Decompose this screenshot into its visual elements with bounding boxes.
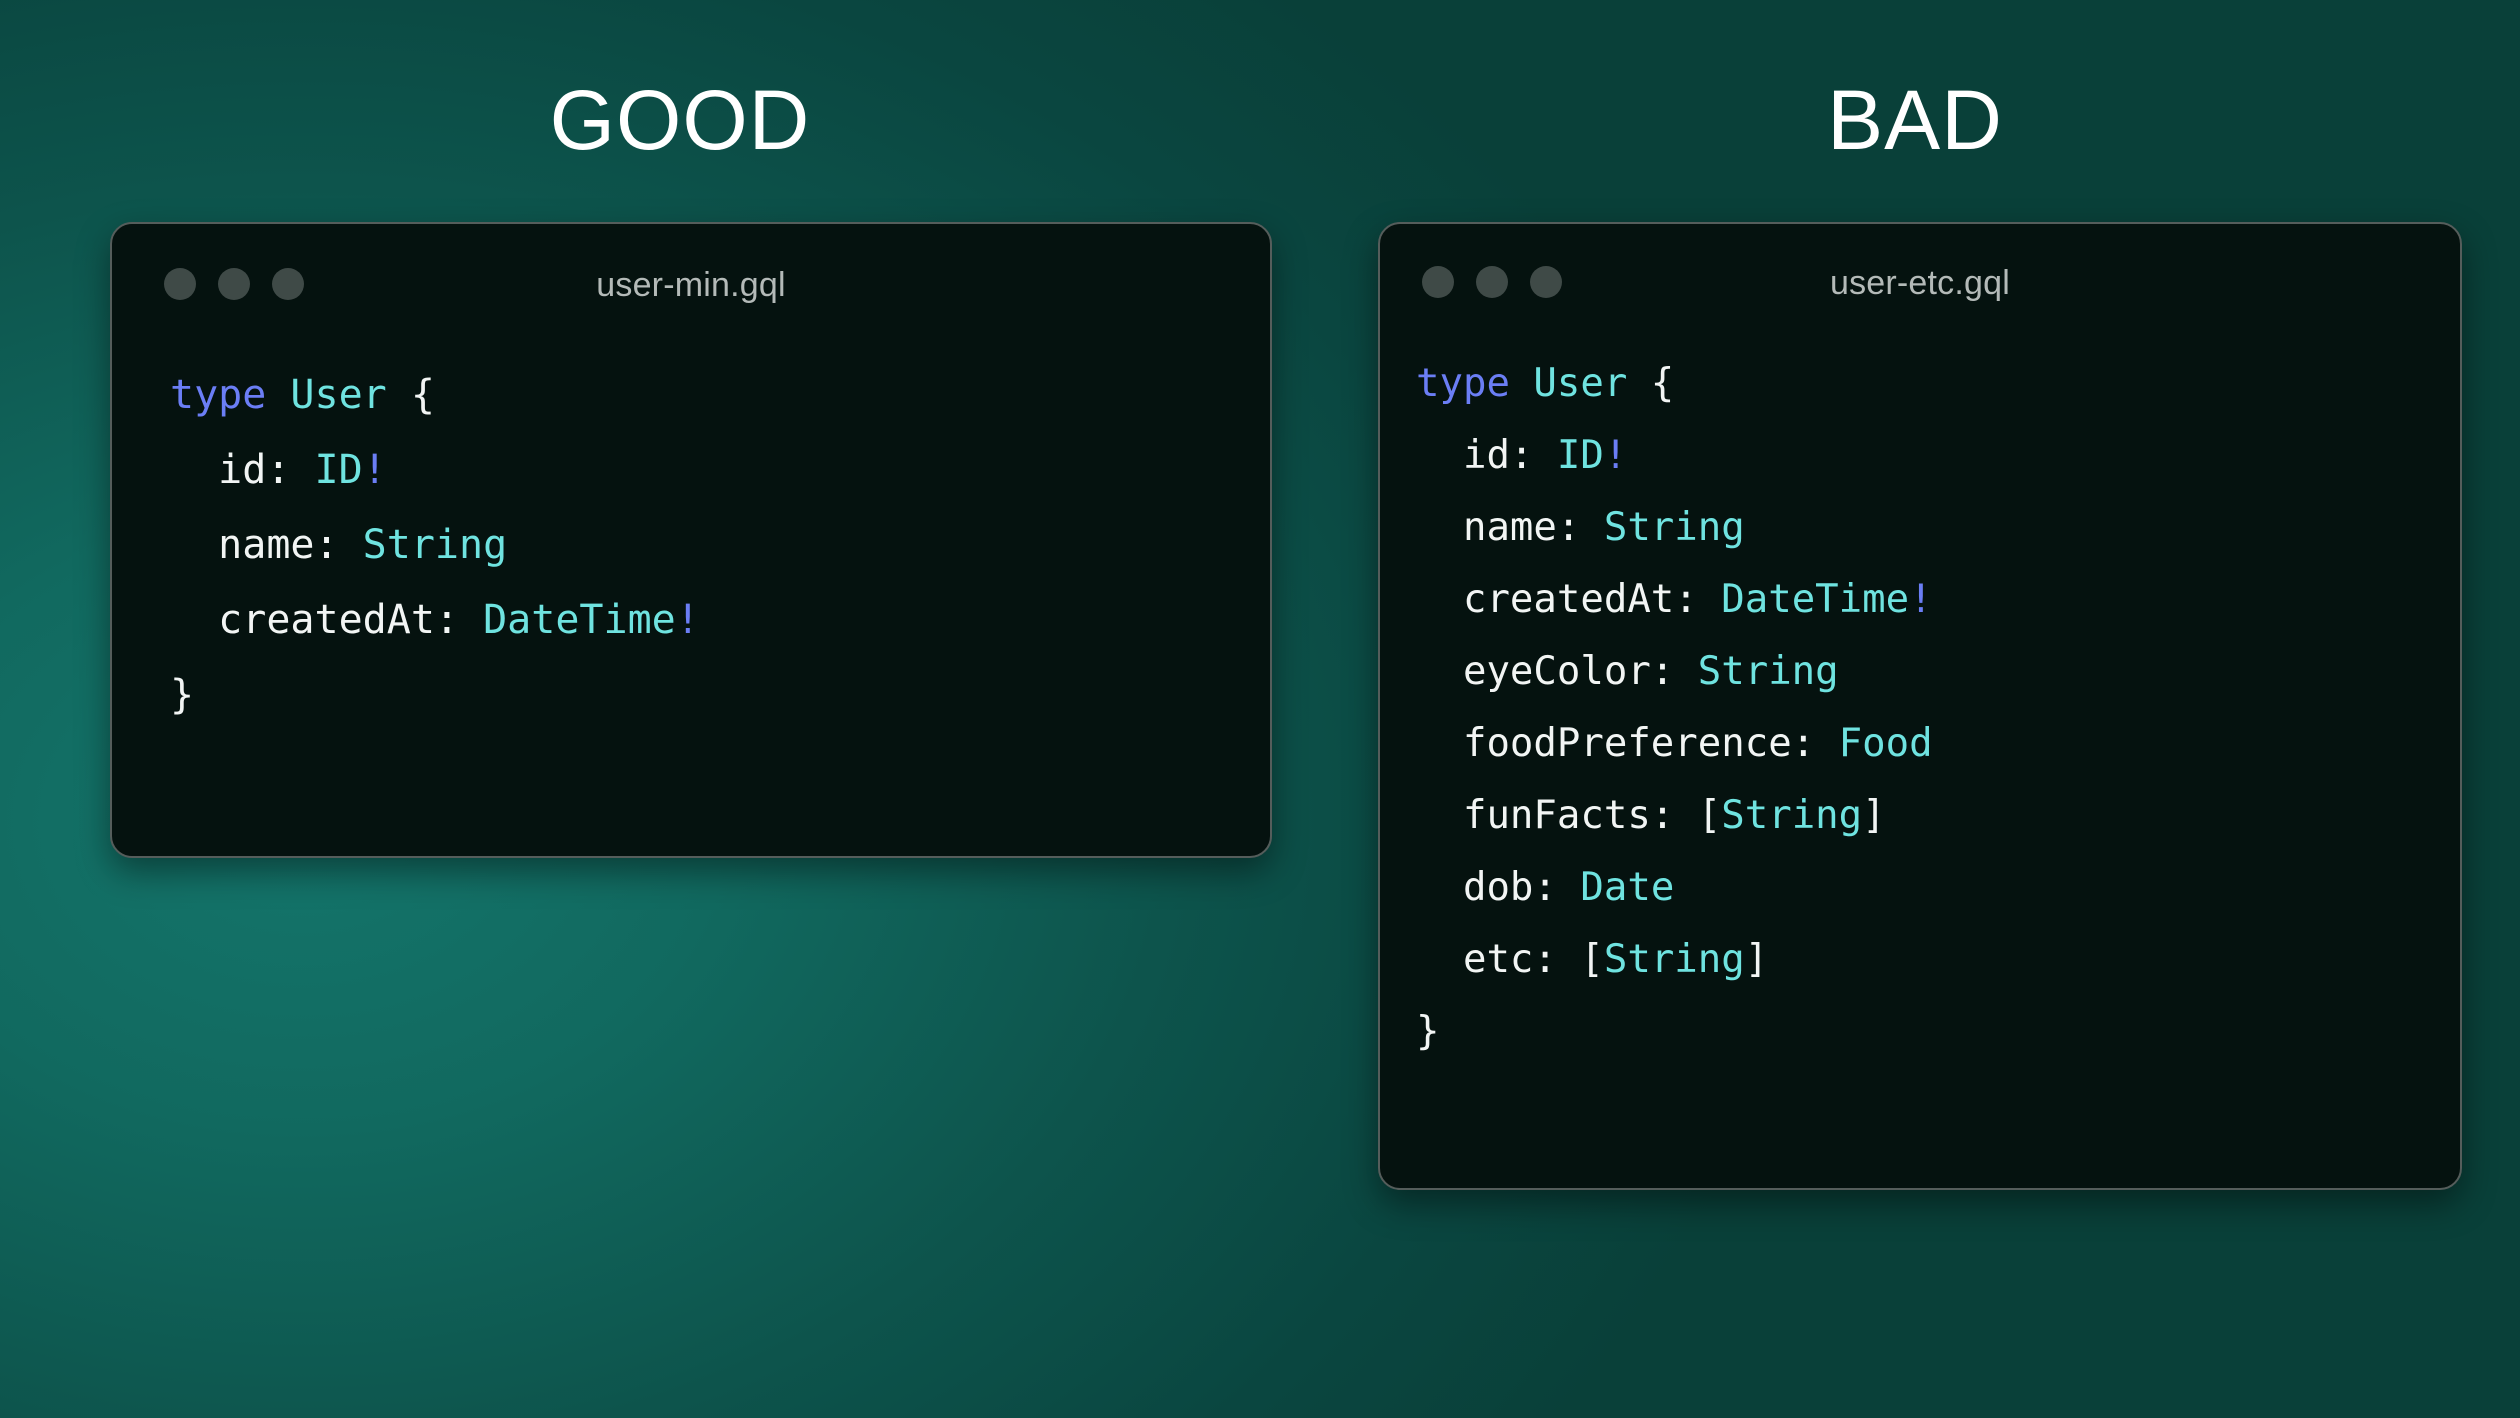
code-block-good: type User { id: ID! name: String created… [112,340,1270,733]
code-token: ! [1604,433,1627,478]
code-line: id: ID! [170,433,1270,508]
code-token: } [1416,1009,1439,1054]
code-token: User [290,372,386,418]
code-line: eyeColor: String [1416,636,2460,708]
code-line: type User { [1416,348,2460,420]
window-titlebar: user-min.gql [112,224,1270,340]
code-window-bad: user-etc.gql type User { id: ID! name: S… [1378,222,2462,1190]
code-block-bad: type User { id: ID! name: String created… [1380,336,2460,1068]
window-filename: user-min.gql [112,266,1270,305]
code-token: ] [1745,937,1768,982]
code-token [1510,361,1533,406]
code-token: { [1627,361,1674,406]
window-titlebar: user-etc.gql [1380,224,2460,336]
code-token: type [1416,361,1510,406]
code-line: name: String [1416,492,2460,564]
code-token [266,372,290,418]
code-line: name: String [170,508,1270,583]
code-line: foodPreference: Food [1416,708,2460,780]
code-token: etc: [1416,937,1580,982]
code-token: id: [1416,433,1557,478]
code-token: String [1604,937,1745,982]
code-token: ID [1557,433,1604,478]
code-window-good: user-min.gql type User { id: ID! name: S… [110,222,1272,858]
column-heading-bad: BAD [1765,78,2065,162]
code-line: } [1416,996,2460,1068]
code-token: [ [1580,937,1603,982]
code-token: id: [170,447,315,493]
column-heading-good: GOOD [530,78,830,162]
code-token: name: [170,522,363,568]
code-line: funFacts: [String] [1416,780,2460,852]
code-token: Date [1580,865,1674,910]
code-line: etc: [String] [1416,924,2460,996]
code-line: createdAt: DateTime! [170,583,1270,658]
code-token: String [1721,793,1862,838]
code-token: [ [1698,793,1721,838]
code-line: id: ID! [1416,420,2460,492]
code-token: DateTime [1721,577,1909,622]
code-token: createdAt: [1416,577,1721,622]
code-line: dob: Date [1416,852,2460,924]
code-token: name: [1416,505,1604,550]
code-token: } [170,672,194,718]
code-token: User [1533,361,1627,406]
comparison-figure: GOOD user-min.gql type User { id: ID! na… [0,0,2520,1418]
code-token: { [387,372,435,418]
code-token: ! [363,447,387,493]
code-token: Food [1839,721,1933,766]
code-token: ID [315,447,363,493]
code-token: foodPreference: [1416,721,1839,766]
code-token: DateTime [483,597,676,643]
code-token: eyeColor: [1416,649,1698,694]
code-token: String [1604,505,1745,550]
code-token: dob: [1416,865,1580,910]
code-token: type [170,372,266,418]
code-line: } [170,658,1270,733]
code-line: type User { [170,358,1270,433]
code-token: ! [1909,577,1932,622]
code-token: ! [676,597,700,643]
code-line: createdAt: DateTime! [1416,564,2460,636]
code-token: String [363,522,508,568]
code-token: ] [1862,793,1885,838]
code-token: createdAt: [170,597,483,643]
window-filename: user-etc.gql [1380,264,2460,303]
code-token: String [1698,649,1839,694]
code-token: funFacts: [1416,793,1698,838]
